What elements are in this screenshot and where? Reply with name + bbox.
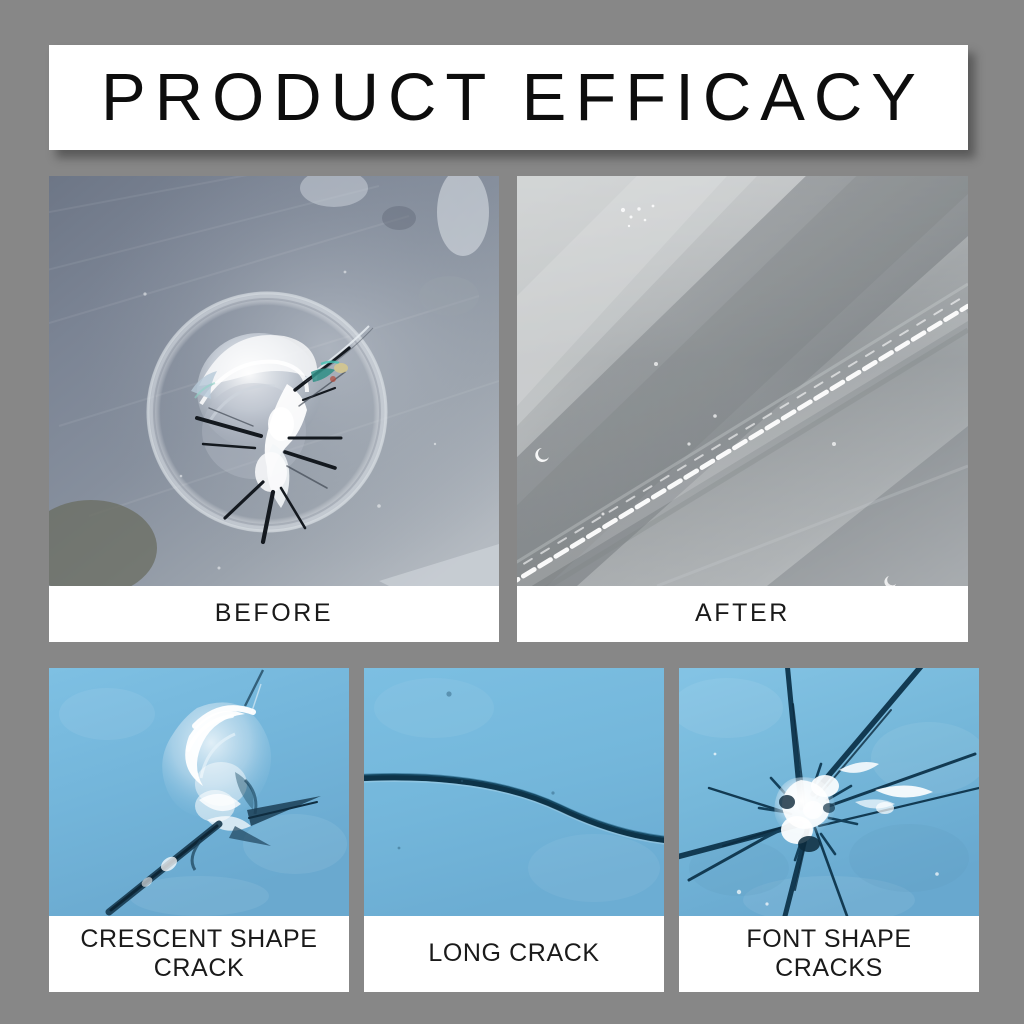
title-banner: PRODUCT EFFICACY <box>49 45 968 150</box>
font-shape-cracks-caption: FONT SHAPE CRACKS <box>679 916 979 992</box>
long-crack-photo <box>364 668 664 916</box>
star-caption-line2: CRACKS <box>775 954 883 982</box>
before-photo <box>49 176 499 586</box>
crescent-crack-photo <box>49 668 349 916</box>
star-break-illustration <box>679 668 979 916</box>
page-title: PRODUCT EFFICACY <box>92 64 925 131</box>
repaired-glass-illustration <box>517 176 968 586</box>
crescent-crack-caption-label: CRESCENT SHAPE CRACK <box>80 925 317 984</box>
font-shape-cracks-caption-label: FONT SHAPE CRACKS <box>746 925 911 984</box>
after-caption: AFTER <box>517 586 968 642</box>
crescent-crack-illustration <box>49 668 349 916</box>
crescent-crack-caption: CRESCENT SHAPE CRACK <box>49 916 349 992</box>
crescent-caption-line2: CRACK <box>154 954 245 982</box>
after-caption-label: AFTER <box>695 599 790 629</box>
crescent-caption-line1: CRESCENT SHAPE <box>80 925 317 953</box>
bullseye-chip-illustration <box>49 176 499 586</box>
long-crack-caption-label: LONG CRACK <box>428 939 599 969</box>
product-efficacy-poster: PRODUCT EFFICACY <box>0 0 1024 1024</box>
font-shape-cracks-photo <box>679 668 979 916</box>
before-caption-label: BEFORE <box>215 599 333 629</box>
long-crack-caption: LONG CRACK <box>364 916 664 992</box>
star-caption-line1: FONT SHAPE <box>746 925 911 953</box>
before-caption: BEFORE <box>49 586 499 642</box>
after-photo <box>517 176 968 586</box>
long-crack-illustration <box>364 668 664 916</box>
